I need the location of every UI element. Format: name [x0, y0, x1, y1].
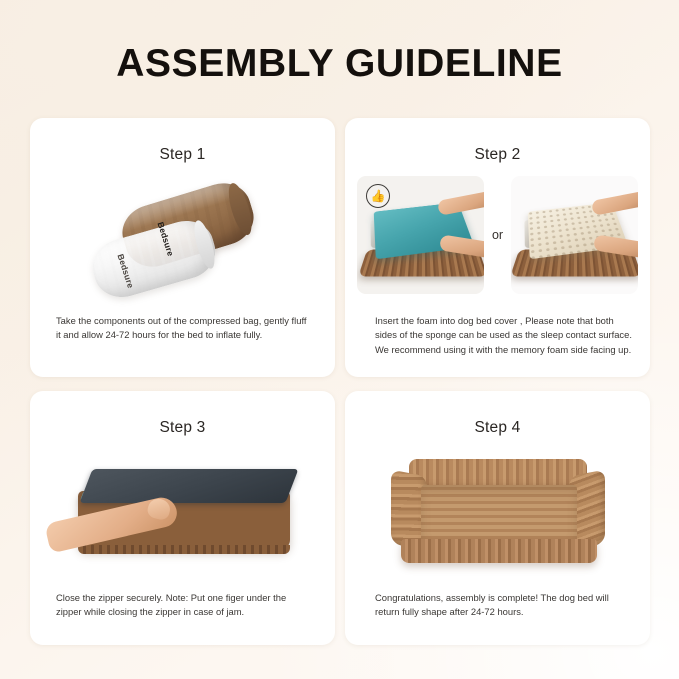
step-4-caption: Congratulations, assembly is complete! T…	[375, 591, 628, 620]
page-title: ASSEMBLY GUIDELINE	[0, 42, 679, 86]
or-separator: or	[490, 228, 505, 242]
step-card-1: Step 1 Bedsure Bedsure Take the componen…	[30, 118, 335, 377]
assembly-guideline-page: ASSEMBLY GUIDELINE Step 1 Bedsure Bedsur…	[0, 0, 679, 679]
teal-foam-panel: 👍	[357, 176, 484, 294]
step-2-caption: Insert the foam into dog bed cover , Ple…	[375, 314, 632, 357]
steps-grid: Step 1 Bedsure Bedsure Take the componen…	[30, 118, 650, 646]
step-1-caption: Take the components out of the compresse…	[56, 314, 313, 343]
step-4-illustration	[345, 445, 650, 575]
step-4-heading: Step 4	[345, 419, 650, 437]
bed-cover-top	[79, 469, 298, 503]
step-2-heading: Step 2	[345, 146, 650, 164]
step-3-heading: Step 3	[30, 419, 335, 437]
step-2-illustration: 👍 or	[345, 174, 650, 296]
step-card-4: Step 4 Congratulations, assembly is comp…	[345, 391, 650, 645]
bed-front-edge	[401, 539, 597, 563]
step-3-caption: Close the zipper securely. Note: Put one…	[56, 591, 313, 620]
step-card-3: Step 3 Close the zipper securely. Note: …	[30, 391, 335, 645]
thumbs-up-icon: 👍	[366, 184, 390, 208]
step-card-2: Step 2 👍 or	[345, 118, 650, 377]
finished-dog-bed	[387, 459, 609, 565]
memory-foam-panel	[511, 176, 638, 294]
step-3-illustration	[30, 443, 335, 571]
step-1-heading: Step 1	[30, 146, 335, 164]
step-1-illustration: Bedsure Bedsure	[30, 174, 335, 299]
bed-seat-surface	[421, 485, 577, 543]
